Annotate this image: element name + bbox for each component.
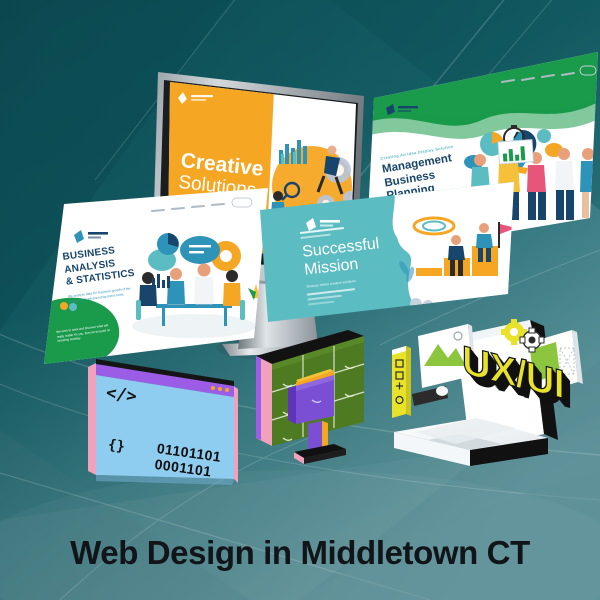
uxui-laptop[interactable]: UX/UI <box>384 318 584 483</box>
code-window[interactable]: </> {} 01101101 0001101 <box>82 355 242 485</box>
footer-title-bar: Web Design in Middletown CT <box>0 505 600 600</box>
mission-text-block: Successful Mission Strategy driven creat… <box>300 220 418 306</box>
page-title: Web Design in Middletown CT <box>70 534 530 572</box>
code-brace-glyph: {} <box>107 437 126 455</box>
screen-business-analysis[interactable]: BUSINESS ANALYSIS & STATISTICS We analyz… <box>40 186 270 366</box>
filing-cabinet[interactable] <box>252 328 392 473</box>
code-tag-glyph: </> <box>105 383 138 407</box>
screen-successful-mission[interactable]: Successful Mission Strategy driven creat… <box>258 182 518 324</box>
